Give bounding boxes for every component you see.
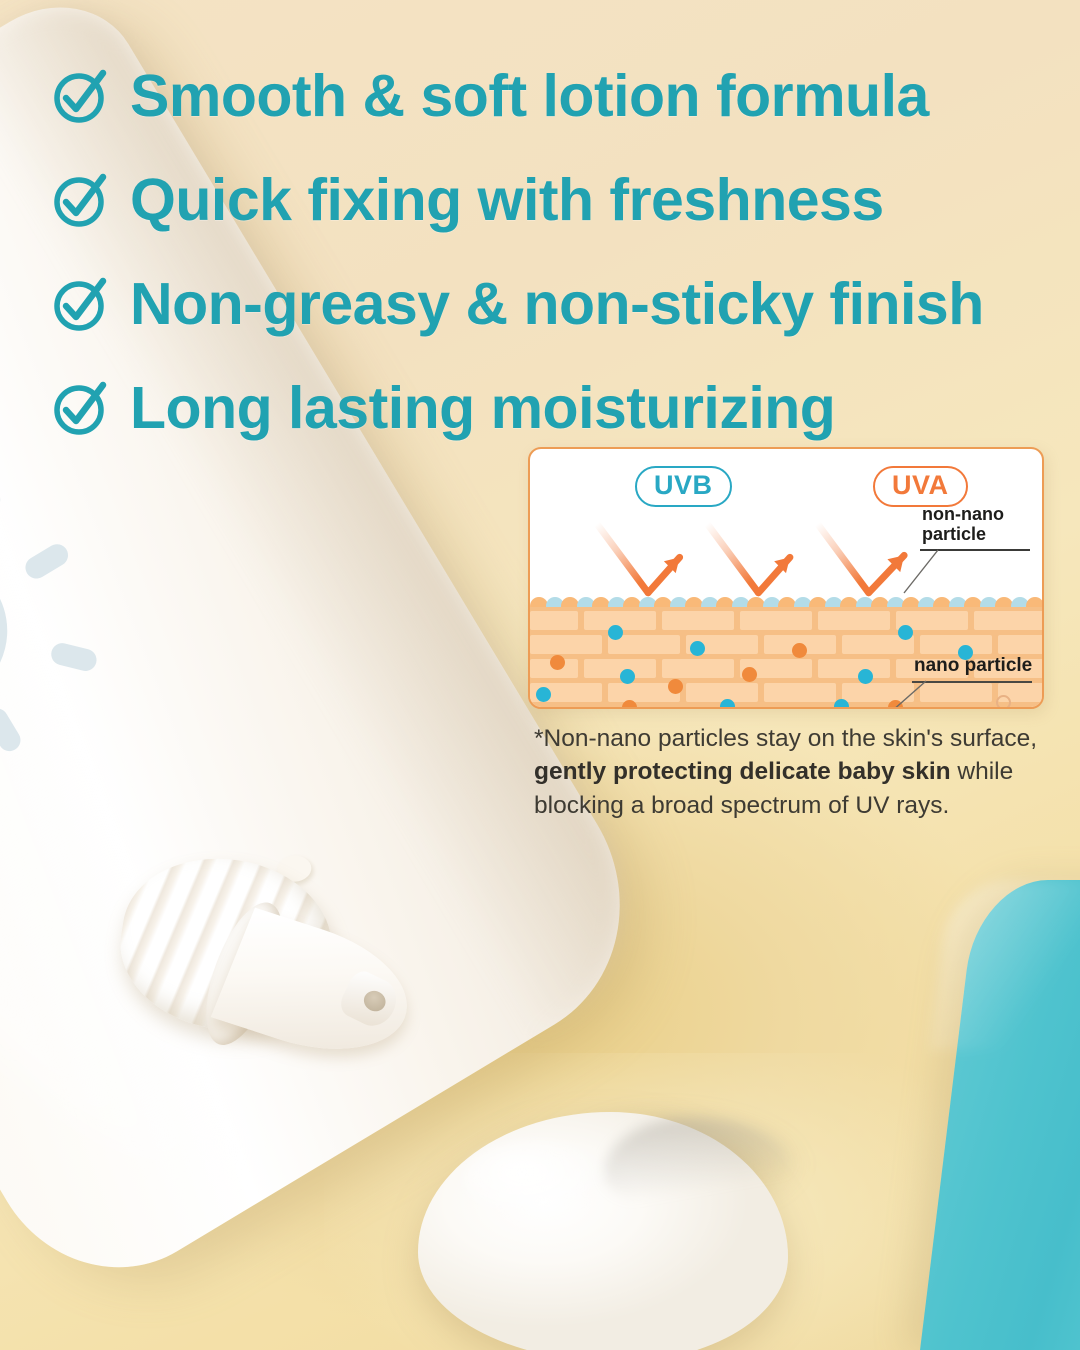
nano-particle-dot (742, 667, 757, 682)
check-circle-icon (52, 68, 108, 124)
check-circle-icon (52, 172, 108, 228)
nano-particle-dot (690, 641, 705, 656)
sun-ray (21, 540, 72, 583)
caption-line-1: *Non-nano particles stay on the skin's s… (534, 725, 1037, 752)
nano-particle-dot (858, 669, 873, 684)
nano-particle-dot (720, 699, 735, 709)
sun-ray (49, 641, 99, 673)
caption-bold: gently protecting delicate baby skin (534, 758, 951, 785)
nano-particle-dot (898, 625, 913, 640)
check-circle-icon (52, 276, 108, 332)
feature-list: Smooth & soft lotion formula Quick fixin… (52, 44, 1052, 460)
nano-particle-label: nano particle (914, 655, 1032, 676)
feature-label: Non-greasy & non-sticky finish (130, 270, 984, 338)
feature-label: Smooth & soft lotion formula (130, 62, 929, 130)
nano-particle-dot (550, 655, 565, 670)
nano-particle-dot (608, 625, 623, 640)
caption-line-3: blocking a broad spectrum of UV rays. (534, 792, 949, 819)
sun-ray (0, 704, 25, 755)
feature-item: Non-greasy & non-sticky finish (52, 252, 1052, 356)
nano-particle-dot (668, 679, 683, 694)
nano-particle-dot (620, 669, 635, 684)
nano-particle-dot (834, 699, 849, 709)
feature-label: Quick fixing with freshness (130, 166, 884, 234)
check-circle-icon (52, 380, 108, 436)
feature-item: Quick fixing with freshness (52, 148, 1052, 252)
feature-item: Long lasting moisturizing (52, 356, 1052, 460)
caption-line-2b: while (951, 758, 1014, 785)
sun-ray (0, 486, 3, 536)
hollow-particle-marker (996, 695, 1011, 709)
non-nano-leader-line (890, 547, 940, 599)
feature-item: Smooth & soft lotion formula (52, 44, 1052, 148)
nano-leader-line (882, 677, 932, 709)
uv-protection-diagram: UVB UVA (528, 447, 1044, 709)
product-marketing-image: WATERFUL SUN LOTION Smooth & soft lotion… (0, 0, 1080, 1350)
diagram-caption: *Non-nano particles stay on the skin's s… (534, 722, 1044, 822)
feature-label: Long lasting moisturizing (130, 374, 835, 442)
nano-particle-dot (792, 643, 807, 658)
non-nano-particle-label: non-nano particle (922, 504, 1004, 544)
nano-particle-dot (536, 687, 551, 702)
lotion-blob-highlight (462, 1140, 612, 1220)
nano-particle-dot (622, 700, 637, 709)
